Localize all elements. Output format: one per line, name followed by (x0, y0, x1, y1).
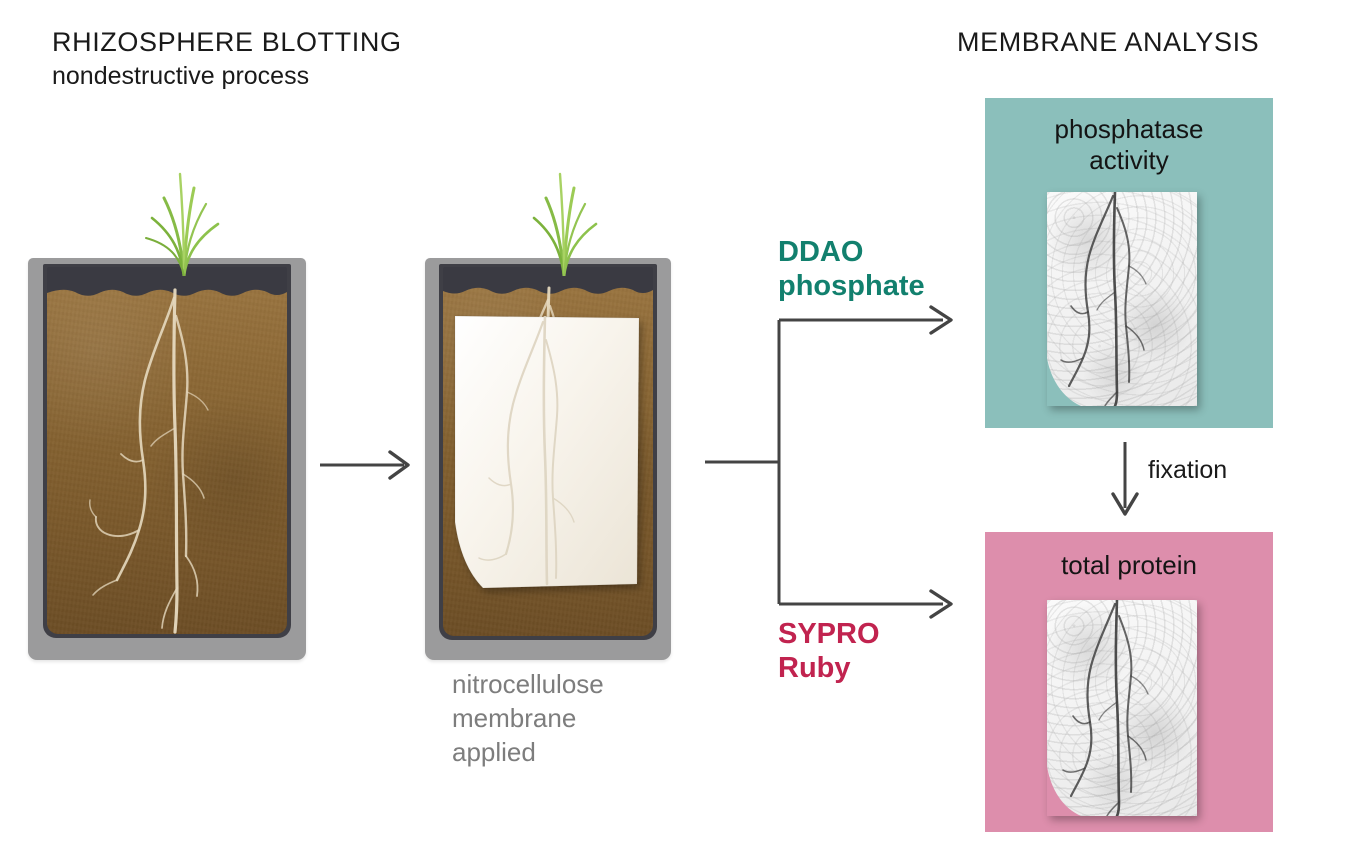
plant-shoot (509, 158, 619, 276)
total-protein-panel: total protein (985, 532, 1273, 832)
panel-title-total-protein: total protein (985, 550, 1273, 581)
reagent-label-sypro-ruby: SYPRO Ruby (778, 618, 880, 685)
root-system (47, 288, 287, 634)
fixation-label: fixation (1148, 456, 1227, 485)
page-title-rhizosphere-blotting: RHIZOSPHERE BLOTTING (52, 27, 402, 58)
rhizobox-soil-only (28, 258, 306, 660)
subtitle-nondestructive-process: nondestructive process (52, 62, 309, 91)
blot-cut-corner-mask (1047, 600, 1197, 816)
blot-cut-corner-mask (1047, 192, 1197, 406)
page-title-membrane-analysis: MEMBRANE ANALYSIS (957, 27, 1259, 58)
phosphatase-activity-panel: phosphatase activity (985, 98, 1273, 428)
membrane-blot-total-protein (1047, 600, 1197, 816)
plant-shoot (124, 158, 244, 276)
figure-canvas: RHIZOSPHERE BLOTTING nondestructive proc… (0, 0, 1350, 862)
branch-fork-connector (705, 310, 970, 620)
transfer-arrow-right (318, 440, 428, 490)
rhizobox-with-membrane (425, 258, 671, 660)
panel-title-phosphatase-activity: phosphatase activity (985, 114, 1273, 175)
caption-membrane-applied: nitrocellulose membrane applied (452, 668, 712, 769)
membrane-blot-phosphatase (1047, 192, 1197, 406)
nitrocellulose-membrane (453, 316, 641, 606)
reagent-label-ddao-phosphate: DDAO phosphate (778, 236, 925, 303)
soil-body (47, 288, 287, 634)
root-imprint-through-membrane (453, 316, 641, 606)
